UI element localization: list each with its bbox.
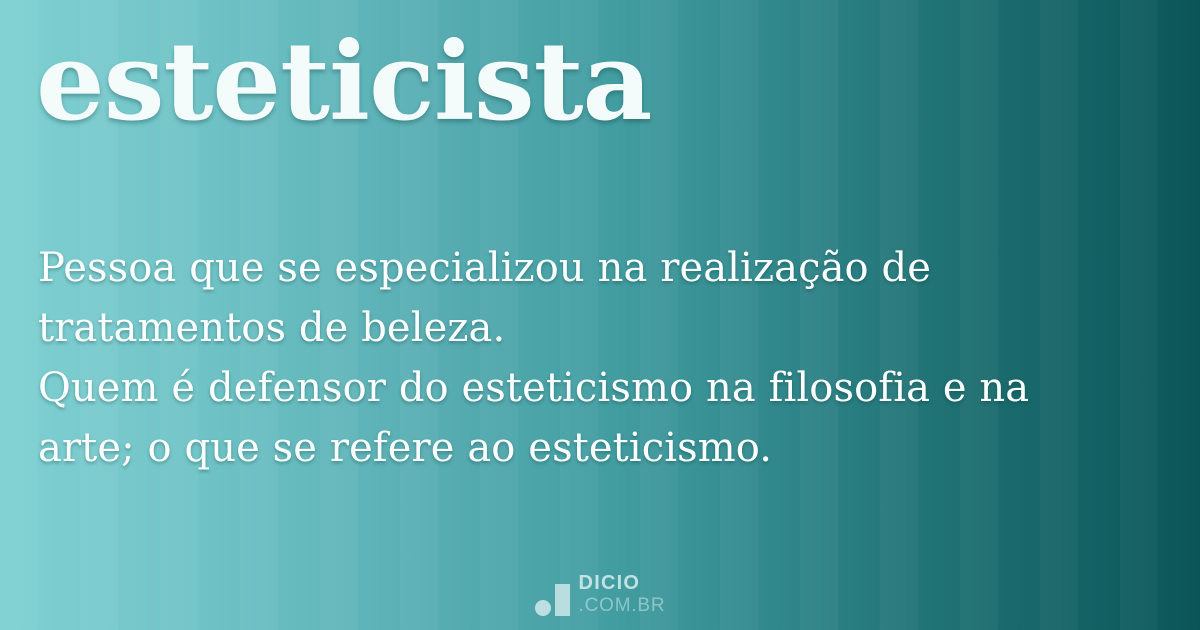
page-title: esteticista: [36, 22, 651, 143]
dicio-logo: DICIO .COM.BR: [0, 573, 1200, 616]
definition-line: tratamentos de beleza.: [38, 298, 1160, 358]
definition-list: Pessoa que se especializou na realização…: [38, 238, 1160, 478]
definition-line: arte; o que se refere ao esteticismo.: [38, 418, 1160, 478]
logo-tld: .COM.BR: [579, 596, 666, 615]
bar-mark-icon: [555, 584, 570, 616]
logo-wordmark: DICIO .COM.BR: [579, 573, 666, 616]
definition-line: Pessoa que se especializou na realização…: [38, 238, 1160, 298]
definition-card: esteticista Pessoa que se especializou n…: [0, 0, 1200, 630]
card-content: esteticista Pessoa que se especializou n…: [0, 0, 1200, 630]
logo-mark: [535, 583, 570, 616]
circle-mark-icon: [535, 600, 551, 616]
definition-line: Quem é defensor do esteticismo na filoso…: [38, 358, 1160, 418]
logo-name: DICIO: [579, 573, 666, 593]
